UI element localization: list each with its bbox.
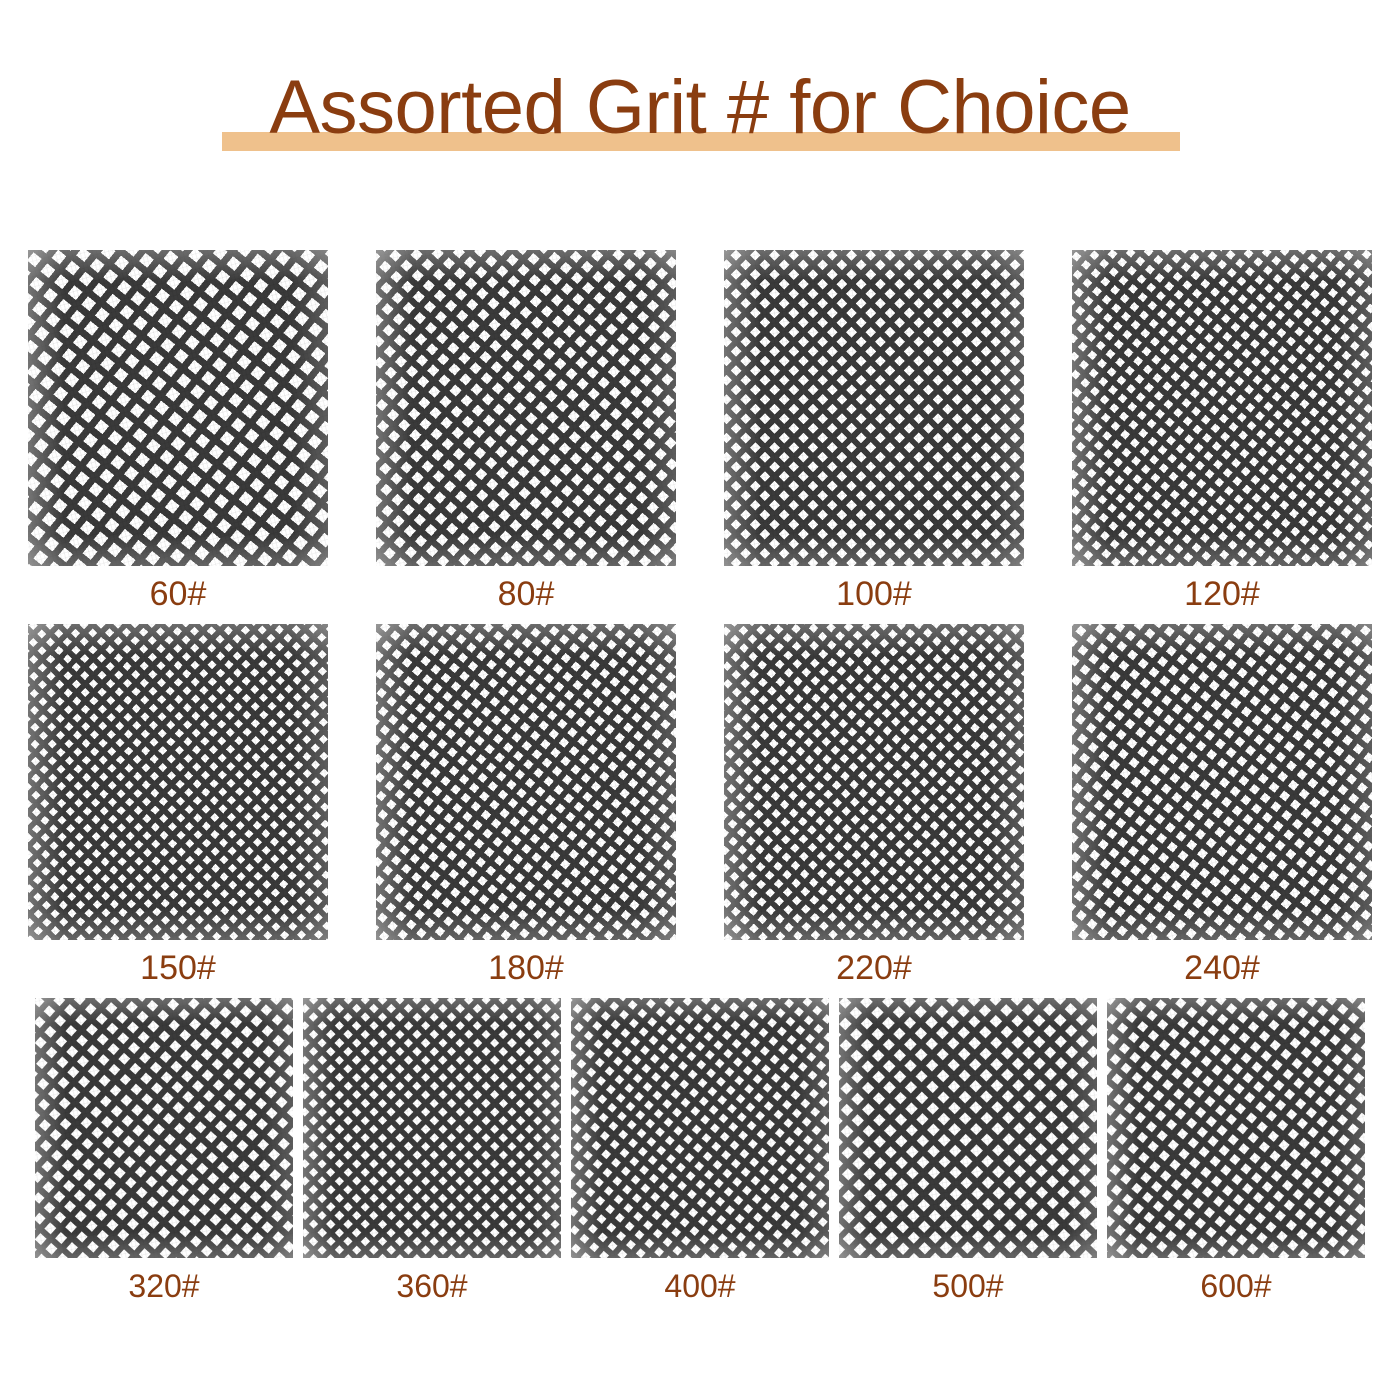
mesh-swatch-image bbox=[1107, 998, 1365, 1258]
page-title: Assorted Grit # for Choice bbox=[0, 62, 1400, 154]
mesh-swatch-image bbox=[839, 998, 1097, 1258]
grit-sample-cell[interactable]: 180# bbox=[376, 624, 676, 988]
mesh-swatch-image bbox=[724, 624, 1024, 940]
grit-row-coarse: 60#80#100#120# bbox=[0, 250, 1400, 614]
grit-label: 100# bbox=[836, 574, 912, 614]
mesh-texture bbox=[724, 624, 1024, 940]
mesh-texture bbox=[1072, 250, 1372, 566]
grit-sample-cell[interactable]: 150# bbox=[28, 624, 328, 988]
mesh-texture bbox=[28, 250, 328, 566]
grit-sample-cell[interactable]: 120# bbox=[1072, 250, 1372, 614]
mesh-swatch-image bbox=[571, 998, 829, 1258]
grit-sample-cell[interactable]: 240# bbox=[1072, 624, 1372, 988]
page-header: Assorted Grit # for Choice bbox=[0, 62, 1400, 172]
grit-label: 80# bbox=[498, 574, 555, 614]
mesh-texture bbox=[35, 998, 293, 1258]
grit-sample-cell[interactable]: 360# bbox=[303, 998, 561, 1306]
mesh-texture bbox=[1072, 624, 1372, 940]
grit-sample-cell[interactable]: 80# bbox=[376, 250, 676, 614]
mesh-swatch-image bbox=[376, 624, 676, 940]
grit-label: 500# bbox=[932, 1266, 1003, 1306]
grit-label: 320# bbox=[128, 1266, 199, 1306]
grit-label: 150# bbox=[140, 948, 216, 988]
grit-sample-cell[interactable]: 400# bbox=[571, 998, 829, 1306]
grit-label: 180# bbox=[488, 948, 564, 988]
grit-label: 600# bbox=[1200, 1266, 1271, 1306]
mesh-texture bbox=[839, 998, 1097, 1258]
mesh-swatch-image bbox=[1072, 624, 1372, 940]
grit-row-medium: 150#180#220#240# bbox=[0, 624, 1400, 988]
grit-sample-cell[interactable]: 600# bbox=[1107, 998, 1365, 1306]
grit-sample-cell[interactable]: 500# bbox=[839, 998, 1097, 1306]
mesh-texture bbox=[376, 250, 676, 566]
grit-label: 240# bbox=[1184, 948, 1260, 988]
grit-sample-cell[interactable]: 320# bbox=[35, 998, 293, 1306]
mesh-swatch-image bbox=[28, 250, 328, 566]
mesh-texture bbox=[724, 250, 1024, 566]
grit-sample-cell[interactable]: 60# bbox=[28, 250, 328, 614]
mesh-texture bbox=[571, 998, 829, 1258]
mesh-texture bbox=[28, 624, 328, 940]
grit-sample-grid: 60#80#100#120# 150#180#220#240# 320#360#… bbox=[0, 250, 1400, 1306]
mesh-texture bbox=[376, 624, 676, 940]
mesh-swatch-image bbox=[303, 998, 561, 1258]
grit-sample-cell[interactable]: 220# bbox=[724, 624, 1024, 988]
grit-label: 220# bbox=[836, 948, 912, 988]
mesh-texture bbox=[1107, 998, 1365, 1258]
grit-label: 360# bbox=[396, 1266, 467, 1306]
grit-row-fine: 320#360#400#500#600# bbox=[0, 998, 1400, 1306]
mesh-swatch-image bbox=[724, 250, 1024, 566]
grit-sample-cell[interactable]: 100# bbox=[724, 250, 1024, 614]
grit-label: 400# bbox=[664, 1266, 735, 1306]
mesh-swatch-image bbox=[28, 624, 328, 940]
mesh-texture bbox=[303, 998, 561, 1258]
mesh-swatch-image bbox=[376, 250, 676, 566]
grit-label: 120# bbox=[1184, 574, 1260, 614]
mesh-swatch-image bbox=[35, 998, 293, 1258]
mesh-swatch-image bbox=[1072, 250, 1372, 566]
grit-label: 60# bbox=[150, 574, 207, 614]
